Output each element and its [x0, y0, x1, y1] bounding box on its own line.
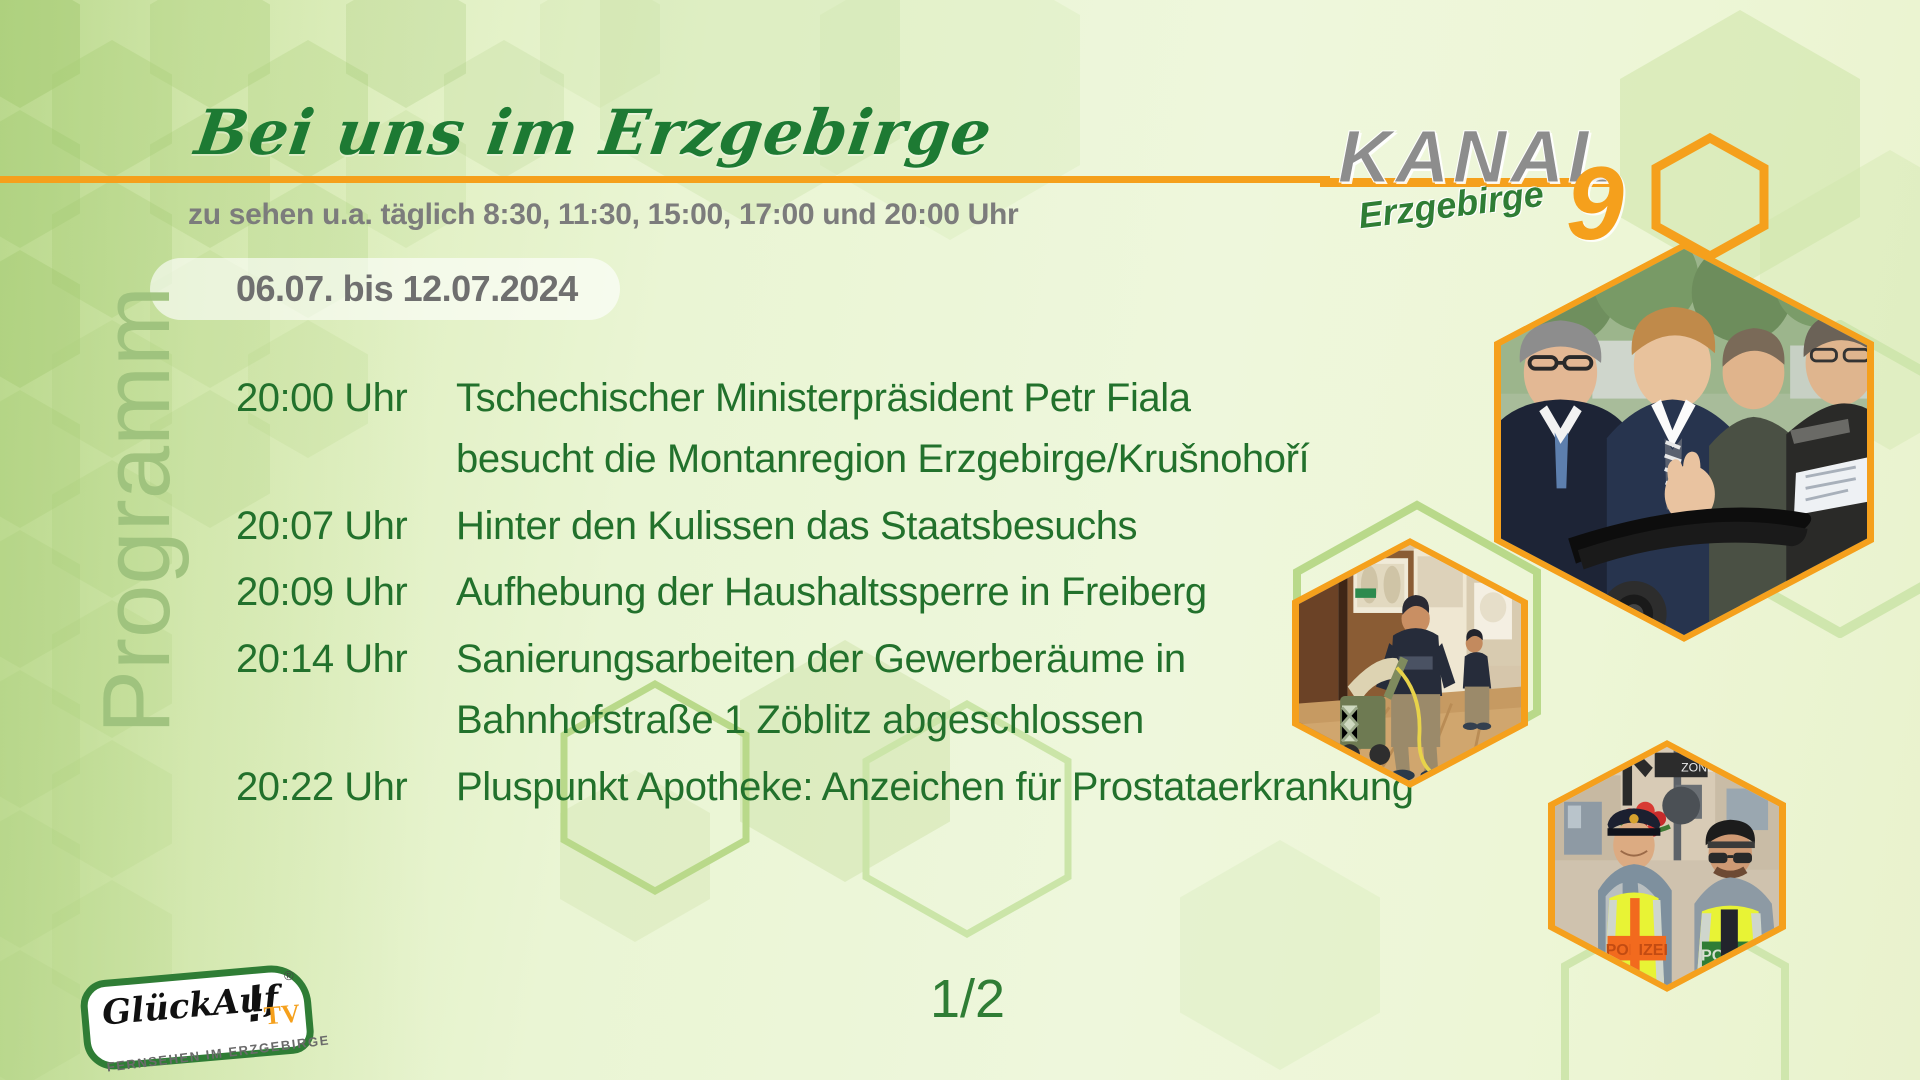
registered-mark-icon: ® — [284, 968, 294, 983]
schedule-description: Tschechischer Ministerpräsident Petr Fia… — [456, 368, 1309, 490]
schedule-description-line1: Hinter den Kulissen das Staatsbesuchs — [456, 504, 1137, 548]
hexagon-outline-icon — [1650, 132, 1770, 267]
page-indicator: 1/2 — [930, 968, 1005, 1030]
list-item: 20:00 Uhr Tschechischer Ministerpräsiden… — [236, 368, 1466, 490]
station-logo: GlückAuf ! ® TV FERNSEHEN IM ERZGEBIRGE — [78, 966, 310, 1072]
schedule-description-line2: Bahnhofstraße 1 Zöblitz abgeschlossen — [456, 690, 1186, 751]
schedule-description-line1: Tschechischer Ministerpräsident Petr Fia… — [456, 376, 1191, 420]
schedule-description: Hinter den Kulissen das Staatsbesuchs — [456, 496, 1137, 557]
photo-image — [1501, 249, 1867, 635]
schedule-description: Pluspunkt Apotheke: Anzeichen für Prosta… — [456, 757, 1414, 818]
schedule-time: 20:14 Uhr — [236, 629, 456, 690]
broadcast-times-subtitle: zu sehen u.a. täglich 8:30, 11:30, 15:00… — [188, 198, 1018, 232]
schedule-description: Sanierungsarbeiten der Gewerberäume in B… — [456, 629, 1186, 751]
page-title: Bei uns im Erzgebirge — [191, 96, 997, 169]
schedule-time: 20:07 Uhr — [236, 496, 456, 557]
schedule-description-line1: Pluspunkt Apotheke: Anzeichen für Prosta… — [456, 765, 1414, 809]
schedule-description-line1: Aufhebung der Haushaltssperre in Freiber… — [456, 570, 1207, 614]
schedule-description: Aufhebung der Haushaltssperre in Freiber… — [456, 562, 1207, 623]
schedule-description-line1: Sanierungsarbeiten der Gewerberäume in — [456, 637, 1186, 681]
program-slide: Bei uns im Erzgebirge zu sehen u.a. tägl… — [0, 0, 1920, 1080]
list-item: 20:22 Uhr Pluspunkt Apotheke: Anzeichen … — [236, 757, 1466, 818]
date-range-badge: 06.07. bis 12.07.2024 — [150, 258, 620, 320]
channel-logo-number: 9 — [1566, 152, 1624, 256]
schedule-list: 20:00 Uhr Tschechischer Ministerpräsiden… — [236, 368, 1466, 824]
photo-police: ZONE — [1548, 740, 1786, 992]
schedule-description-line2: besucht die Montanregion Erzgebirge/Kruš… — [456, 429, 1309, 490]
channel-logo: KANAL Erzgebirge 9 — [1330, 112, 1750, 252]
schedule-time: 20:00 Uhr — [236, 368, 456, 429]
schedule-time: 20:09 Uhr — [236, 562, 456, 623]
section-label-programm: Programm — [82, 160, 192, 860]
list-item: 20:14 Uhr Sanierungsarbeiten der Gewerbe… — [236, 629, 1466, 751]
date-range-label: 06.07. bis 12.07.2024 — [236, 268, 578, 310]
station-logo-tv: TV — [263, 998, 302, 1031]
header-divider-rule — [0, 176, 1330, 183]
photo-state-visit — [1494, 242, 1874, 642]
list-item: 20:07 Uhr Hinter den Kulissen das Staats… — [236, 496, 1466, 557]
schedule-time: 20:22 Uhr — [236, 757, 456, 818]
list-item: 20:09 Uhr Aufhebung der Haushaltssperre … — [236, 562, 1466, 623]
